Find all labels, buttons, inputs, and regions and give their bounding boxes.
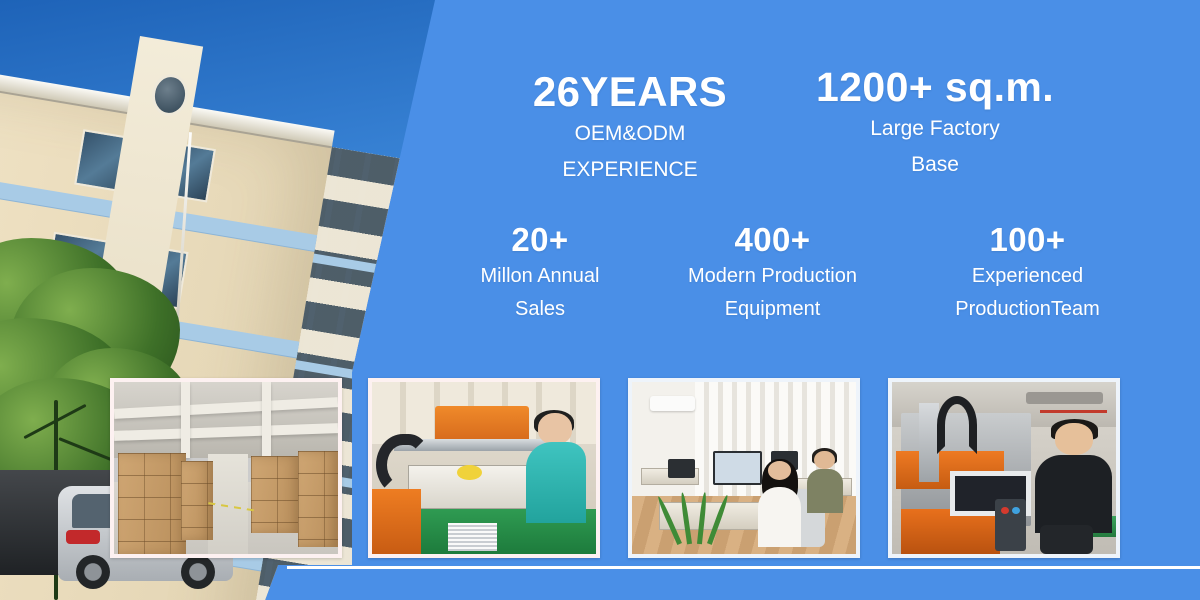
banner-root: 26YEARS OEM&ODM EXPERIENCE 1200+ sq.m. L… xyxy=(0,0,1200,600)
photo-thumbnail-strip xyxy=(0,0,1200,600)
thumbnail-office-team xyxy=(628,378,860,558)
thumbnail-warehouse-boxes xyxy=(110,378,342,558)
thumbnail-production-line-worker xyxy=(368,378,600,558)
thumbnail-machine-operator xyxy=(888,378,1120,558)
